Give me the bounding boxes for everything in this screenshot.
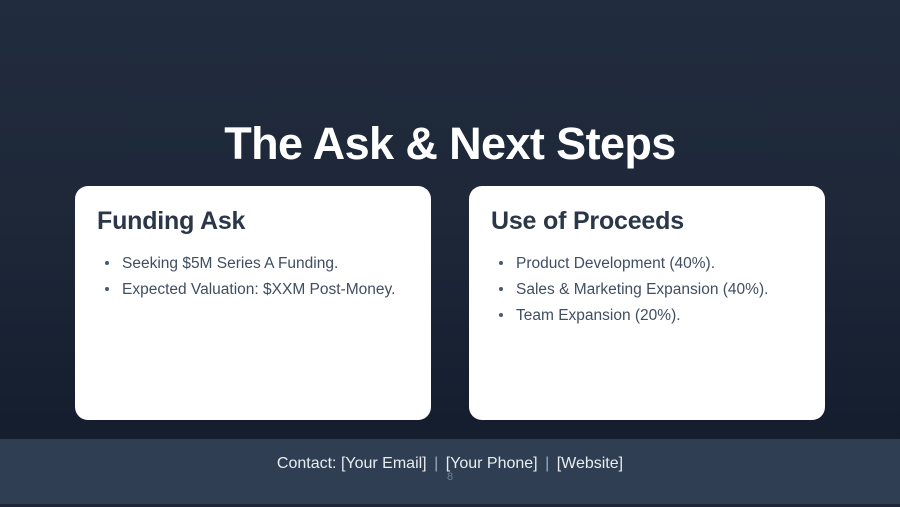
bullet-dot-icon xyxy=(105,287,109,291)
list-item-text: Sales & Marketing Expansion (40%). xyxy=(516,281,768,298)
list-item: Sales & Marketing Expansion (40%). xyxy=(491,278,803,303)
bullet-dot-icon xyxy=(499,261,503,265)
list-item: Seeking $5M Series A Funding. xyxy=(97,252,409,277)
list-item-text: Expected Valuation: $XXM Post-Money. xyxy=(122,281,395,298)
page-number: 8 xyxy=(0,472,900,483)
contact-label: Contact: xyxy=(277,455,337,472)
list-item-text: Seeking $5M Series A Funding. xyxy=(122,255,338,272)
separator-2: | xyxy=(542,455,552,472)
list-item-text: Product Development (40%). xyxy=(516,255,715,272)
card-bullet-list: Seeking $5M Series A Funding. Expected V… xyxy=(97,252,409,304)
slide-canvas: The Ask & Next Steps Funding Ask Seeking… xyxy=(0,0,900,507)
bullet-dot-icon xyxy=(105,261,109,265)
contact-email[interactable]: [Your Email] xyxy=(341,455,427,472)
list-item: Team Expansion (20%). xyxy=(491,304,803,329)
list-item: Product Development (40%). xyxy=(491,252,803,277)
footer-bar: Contact: [Your Email] | [Your Phone] | [… xyxy=(0,439,900,507)
contact-phone[interactable]: [Your Phone] xyxy=(446,455,538,472)
card-funding-ask[interactable]: Funding Ask Seeking $5M Series A Funding… xyxy=(75,186,431,420)
list-item-text: Team Expansion (20%). xyxy=(516,307,681,324)
cards-row: Funding Ask Seeking $5M Series A Funding… xyxy=(75,186,825,420)
card-bullet-list: Product Development (40%). Sales & Marke… xyxy=(491,252,803,329)
card-heading: Use of Proceeds xyxy=(491,206,803,236)
contact-website[interactable]: [Website] xyxy=(557,455,623,472)
card-use-of-proceeds[interactable]: Use of Proceeds Product Development (40%… xyxy=(469,186,825,420)
separator-1: | xyxy=(431,455,441,472)
page-title: The Ask & Next Steps xyxy=(0,118,900,170)
bullet-dot-icon xyxy=(499,313,503,317)
bullet-dot-icon xyxy=(499,287,503,291)
card-heading: Funding Ask xyxy=(97,206,409,236)
list-item: Expected Valuation: $XXM Post-Money. xyxy=(97,278,409,303)
